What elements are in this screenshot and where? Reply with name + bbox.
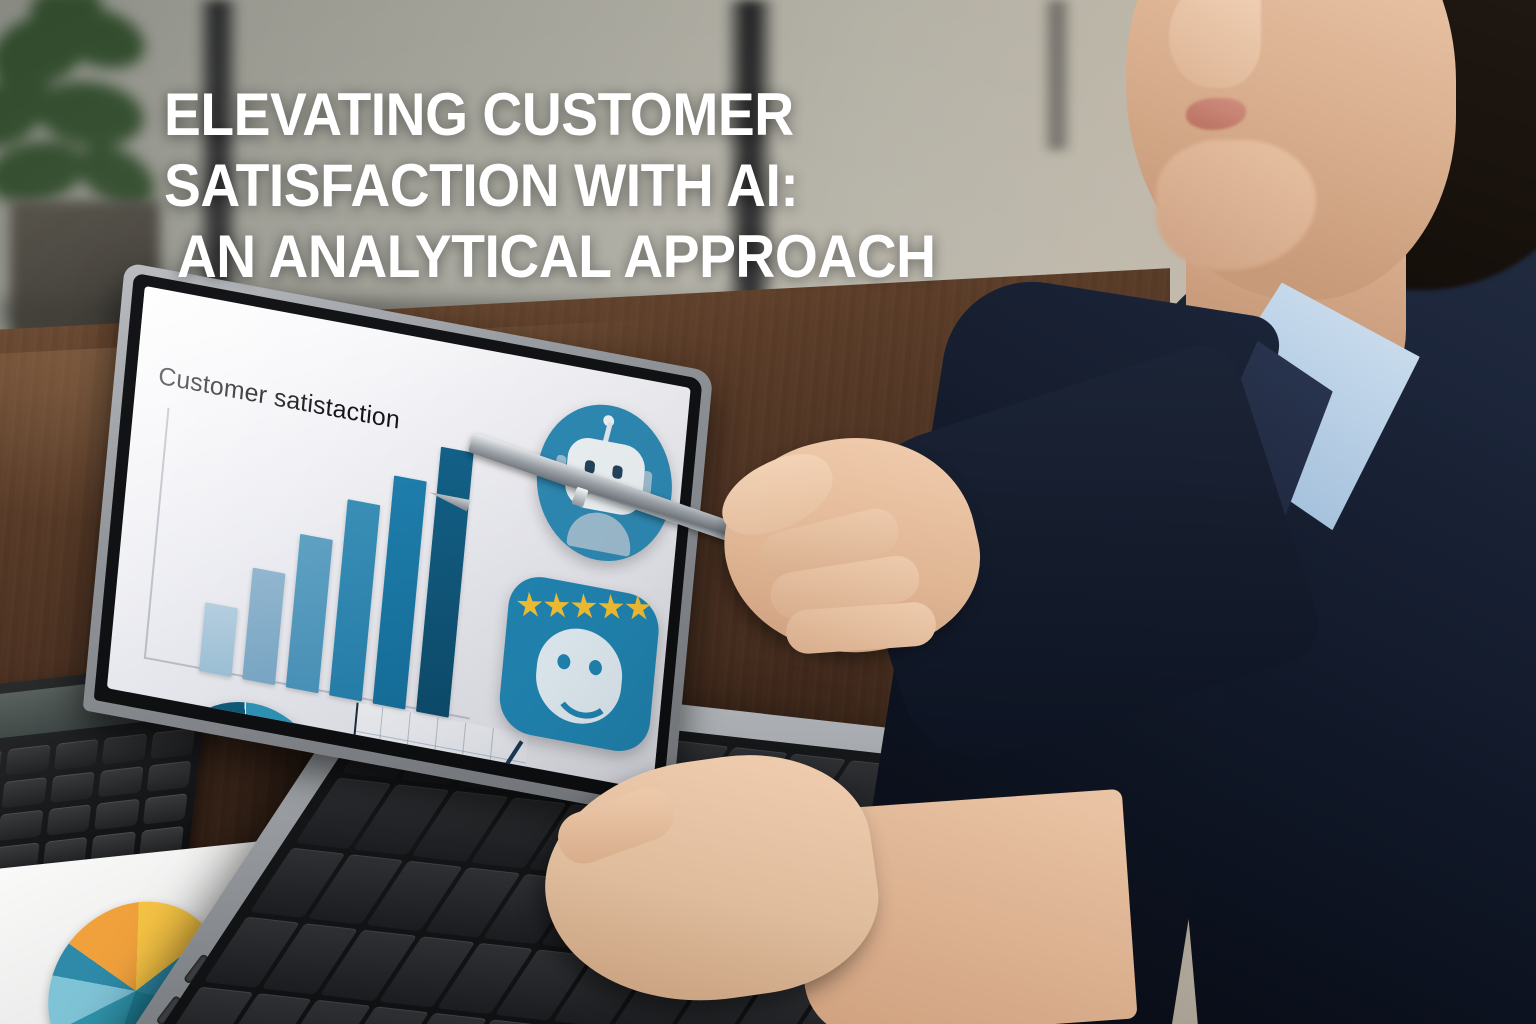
title-line-3: AN ANALYTICAL APPROACH xyxy=(164,228,1047,287)
bar-4 xyxy=(329,499,380,701)
bar-3 xyxy=(286,534,333,694)
title-line-1: ELEVATING CUSTOMER xyxy=(164,86,1047,145)
star-icon-5 xyxy=(624,594,652,622)
bar-2 xyxy=(242,568,285,685)
screen-bezel: Customer satistaction xyxy=(94,273,703,806)
star-icon-2 xyxy=(543,592,571,620)
bar-chart xyxy=(199,406,500,723)
star-icon-4 xyxy=(597,593,625,621)
nose xyxy=(1169,0,1261,88)
smiley-face xyxy=(532,621,626,730)
laptop-screen[interactable]: Customer satistaction xyxy=(107,286,691,790)
page-title: ELEVATING CUSTOMER SATISFACTION WITH AI:… xyxy=(164,86,1047,298)
bar-chart-y-axis xyxy=(144,408,170,659)
laptop-lid: Customer satistaction xyxy=(83,262,714,820)
star-icon-3 xyxy=(570,593,598,621)
star-icon-1 xyxy=(516,591,544,619)
star-rating xyxy=(516,591,653,629)
five-star-smiley-icon xyxy=(497,571,662,756)
scene-root: Customer satistaction xyxy=(0,0,1536,1024)
title-line-2: SATISFACTION WITH AI: xyxy=(164,157,1047,216)
bar-1 xyxy=(199,602,238,677)
